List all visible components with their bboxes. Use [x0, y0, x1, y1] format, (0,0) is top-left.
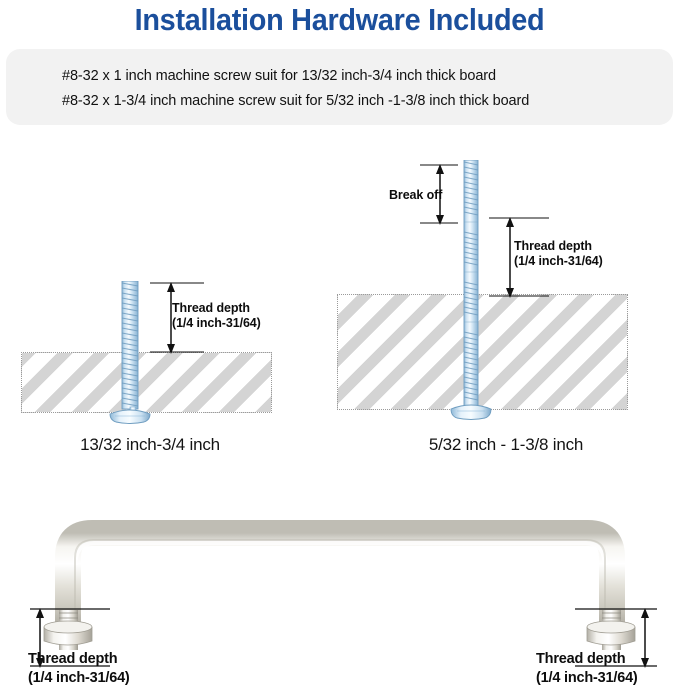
thread-depth-left-line1: Thread depth: [172, 301, 250, 315]
dimension-label-break-off: Break off: [389, 188, 442, 203]
screw-illustration-left: [109, 281, 151, 431]
thread-depth-right-line2: (1/4 inch-31/64): [514, 254, 603, 268]
caption-right: 5/32 inch - 1-3/8 inch: [356, 435, 656, 455]
dimension-label-thread-depth-left: Thread depth (1/4 inch-31/64): [172, 301, 261, 331]
caption-left: 13/32 inch-3/4 inch: [0, 435, 300, 455]
handle-td-left-line1: Thread depth: [28, 651, 117, 667]
dimension-label-thread-depth-right: Thread depth (1/4 inch-31/64): [514, 239, 603, 269]
handle-bar: [68, 533, 612, 630]
handle-td-right-line2: (1/4 inch-31/64): [536, 670, 638, 686]
thread-depth-right-line1: Thread depth: [514, 239, 592, 253]
handle-td-left-line2: (1/4 inch-31/64): [28, 670, 130, 686]
page-title: Installation Hardware Included: [24, 2, 655, 38]
handle-thread-depth-label-right: Thread depth (1/4 inch-31/64): [536, 650, 638, 688]
spec-box: #8-32 x 1 inch machine screw suit for 13…: [6, 49, 673, 125]
handle-thread-depth-label-left: Thread depth (1/4 inch-31/64): [28, 650, 130, 688]
handle-td-right-line1: Thread depth: [536, 651, 625, 667]
spec-line-2: #8-32 x 1-3/4 inch machine screw suit fo…: [62, 93, 529, 109]
thread-depth-left-line2: (1/4 inch-31/64): [172, 316, 261, 330]
spec-line-1: #8-32 x 1 inch machine screw suit for 13…: [62, 68, 496, 84]
